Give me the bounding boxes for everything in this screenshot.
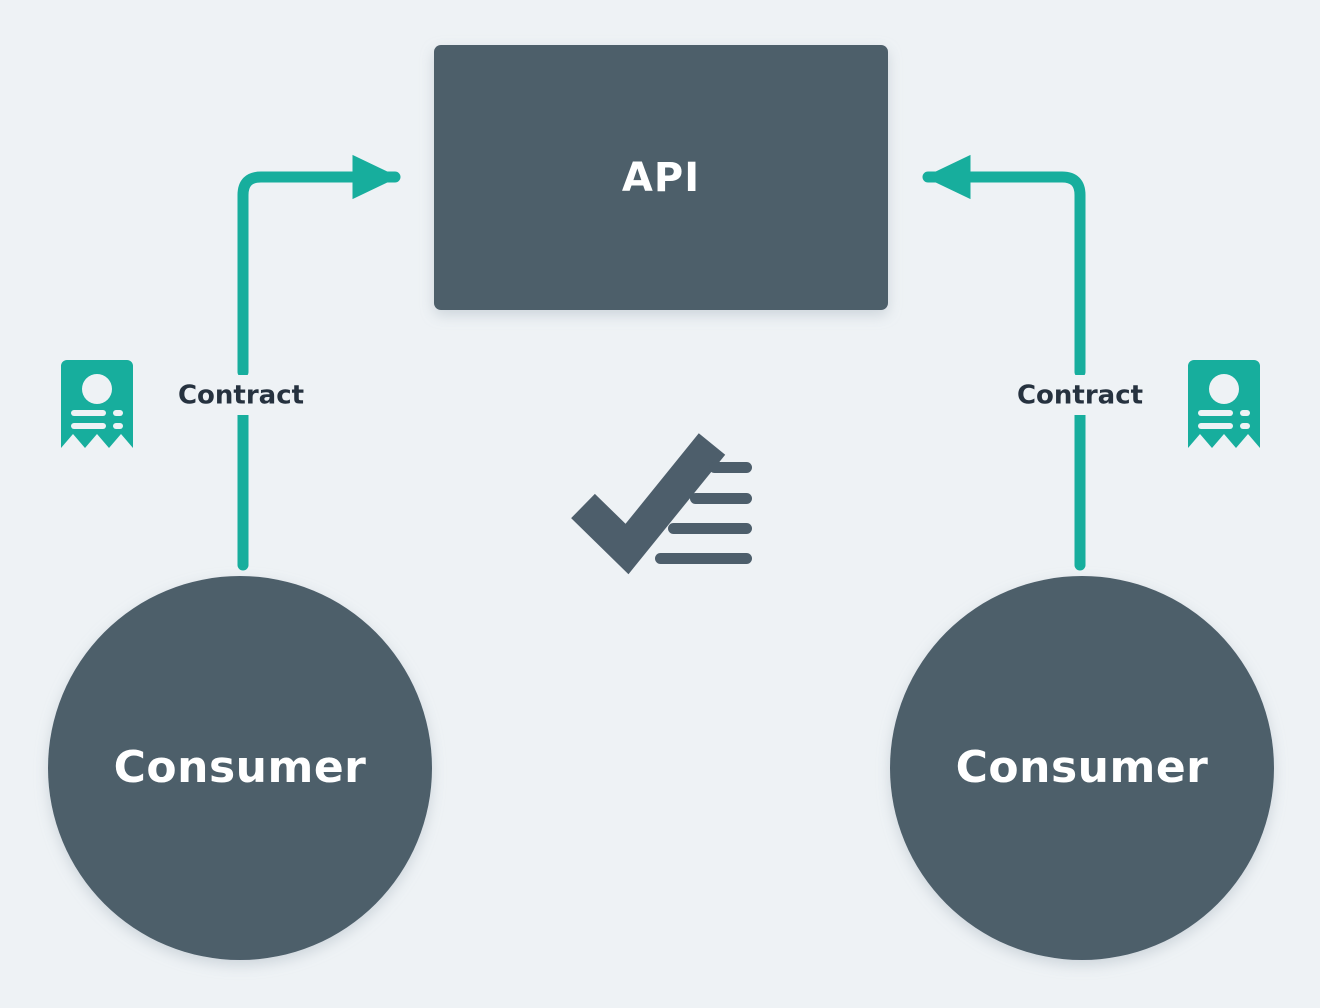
node-consumer-right[interactable]: Consumer xyxy=(890,576,1274,960)
api-label: API xyxy=(622,155,700,201)
contract-avatar-left xyxy=(82,374,112,404)
edge-left-label: Contract xyxy=(178,381,304,411)
diagram-svg: API Contract Contract xyxy=(0,0,1320,1008)
contract-line-1-left xyxy=(71,410,106,416)
node-consumer-left[interactable]: Consumer xyxy=(48,576,432,960)
checkmark-line-3 xyxy=(668,523,752,534)
contract-line-2-left xyxy=(113,410,123,416)
checkmark-line-4 xyxy=(655,553,752,564)
consumer-right-label: Consumer xyxy=(956,742,1209,793)
contract-avatar-right xyxy=(1209,374,1239,404)
checkmark-line-2 xyxy=(690,493,752,504)
checkmark-line-1 xyxy=(709,462,752,473)
consumer-left-label: Consumer xyxy=(114,742,367,793)
contract-line-2-right xyxy=(1240,410,1250,416)
contract-line-3-left xyxy=(71,423,106,429)
contract-line-3-right xyxy=(1198,423,1233,429)
node-api[interactable]: API xyxy=(434,45,888,310)
diagram-canvas: API Contract Contract xyxy=(0,0,1320,1008)
contract-line-4-left xyxy=(113,423,123,429)
contract-line-1-right xyxy=(1198,410,1233,416)
edge-right-label: Contract xyxy=(1017,381,1143,411)
contract-line-4-right xyxy=(1240,423,1250,429)
